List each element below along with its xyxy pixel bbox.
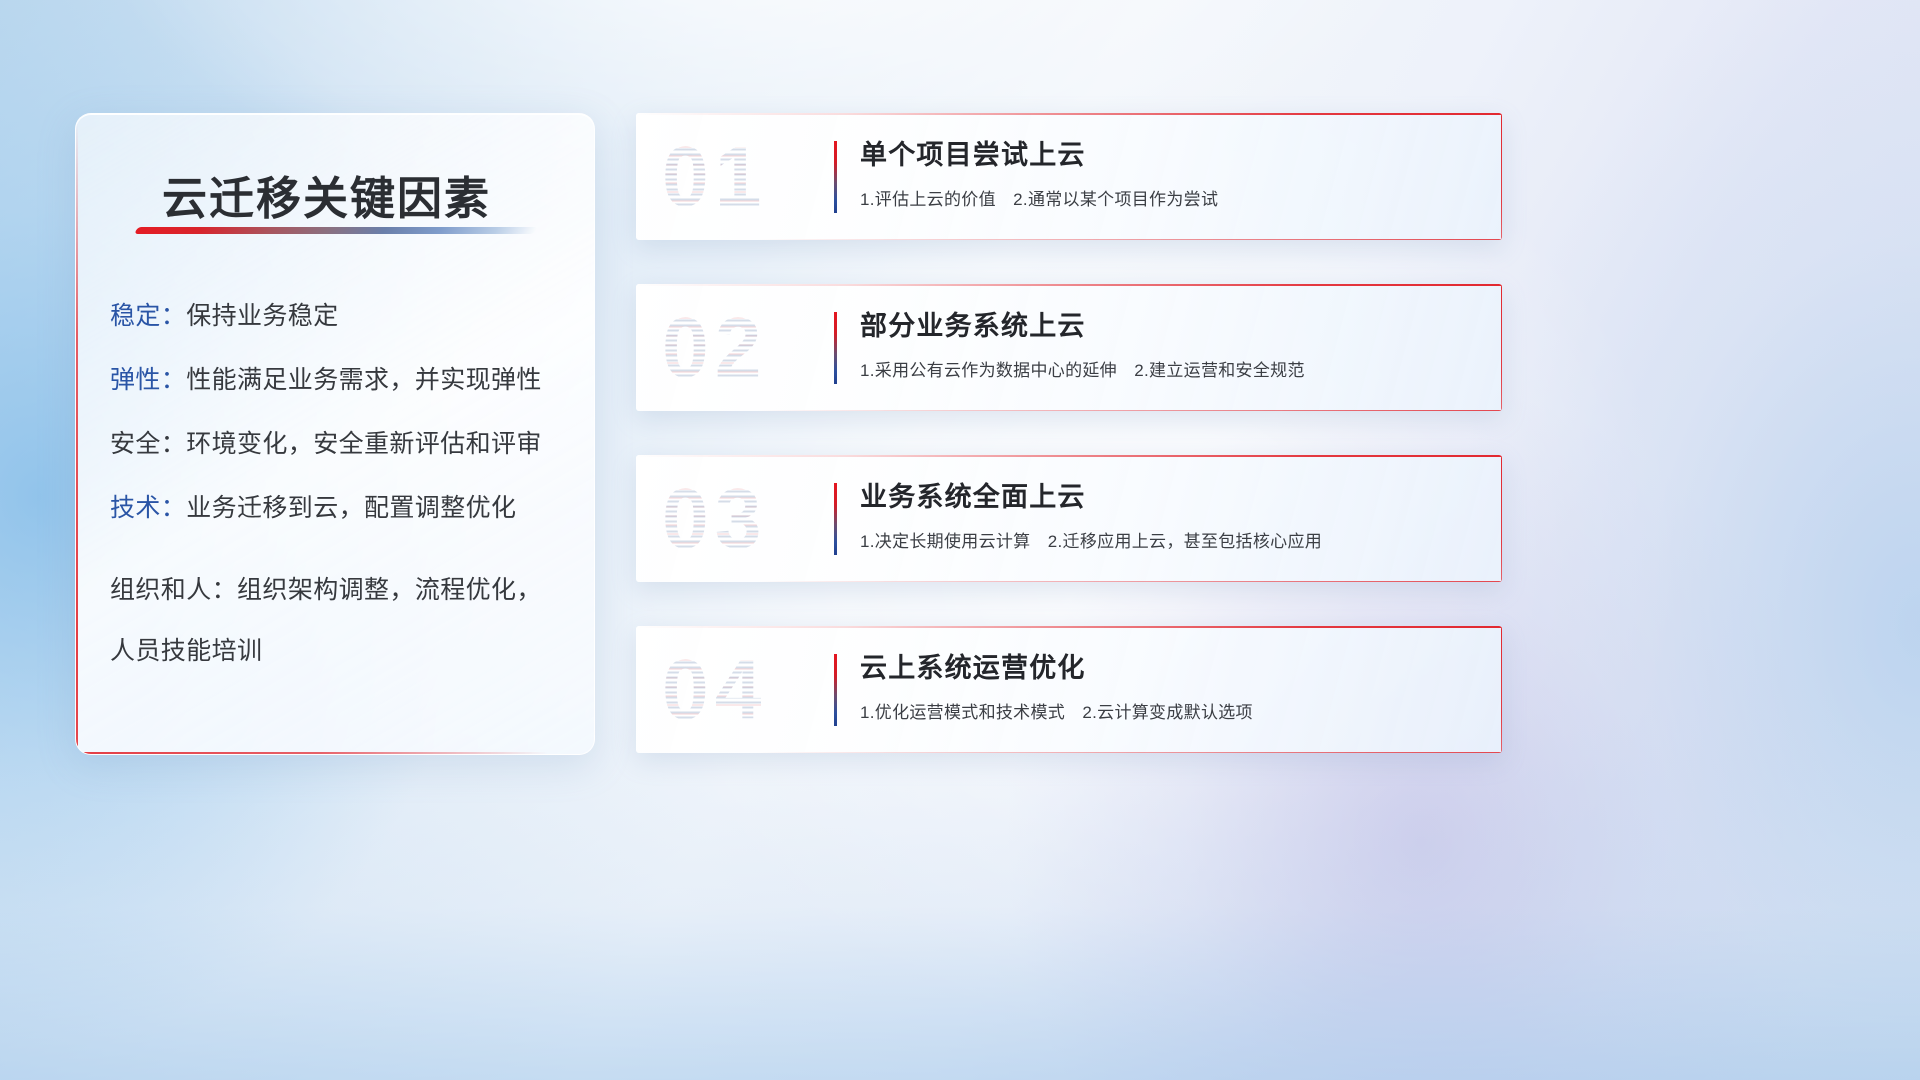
card-right-accent-line <box>1501 113 1503 240</box>
list-item: 组织和人：组织架构调整，流程优化，人员技能培训 <box>110 560 560 681</box>
card-bottom-accent-line <box>756 752 1502 754</box>
key-factors-list: 稳定：保持业务稳定 弹性：性能满足业务需求，并实现弹性 安全：环境变化，安全重新… <box>76 304 594 681</box>
list-item-label: 技术： <box>110 494 186 522</box>
list-item-label: 稳定： <box>110 302 186 330</box>
card-number: 02 <box>662 299 767 396</box>
card-accent-bar <box>834 654 837 726</box>
card-top-accent-line <box>636 113 1502 115</box>
card-description: 1.采用公有云作为数据中心的延伸 2.建立运营和安全规范 <box>860 356 1482 381</box>
stage-card[interactable]: 02 02 部分业务系统上云 1.采用公有云作为数据中心的延伸 2.建立运营和安… <box>636 284 1502 411</box>
panel-bottom-accent-edge <box>76 752 548 754</box>
card-right-accent-line <box>1501 284 1503 411</box>
card-bottom-accent-line <box>756 581 1502 583</box>
card-right-accent-line <box>1501 626 1503 753</box>
card-number-ghost: 01 <box>662 128 767 225</box>
card-number-ghost: 03 <box>662 470 767 567</box>
card-bottom-accent-line <box>756 239 1502 241</box>
card-accent-bar <box>834 312 837 384</box>
card-body: 业务系统全面上云 1.决定长期使用云计算 2.迁移应用上云，甚至包括核心应用 <box>860 482 1482 552</box>
card-title: 云上系统运营优化 <box>860 653 1482 684</box>
card-body: 部分业务系统上云 1.采用公有云作为数据中心的延伸 2.建立运营和安全规范 <box>860 311 1482 381</box>
card-number-ghost: 02 <box>662 299 767 396</box>
title-underline-rule <box>134 227 538 234</box>
card-description: 1.决定长期使用云计算 2.迁移应用上云，甚至包括核心应用 <box>860 527 1482 552</box>
card-description: 1.优化运营模式和技术模式 2.云计算变成默认选项 <box>860 698 1482 723</box>
card-top-accent-line <box>636 284 1502 286</box>
list-item: 技术：业务迁移到云，配置调整优化 <box>110 496 560 521</box>
list-item-text: 保持业务稳定 <box>186 302 338 330</box>
list-item-label: 弹性： <box>110 366 186 394</box>
stage-card[interactable]: 04 04 云上系统运营优化 1.优化运营模式和技术模式 2.云计算变成默认选项 <box>636 626 1502 753</box>
card-top-accent-line <box>636 626 1502 628</box>
card-number: 03 <box>662 470 767 567</box>
card-number-ghost: 04 <box>662 641 767 738</box>
migration-stage-cards: 01 01 单个项目尝试上云 1.评估上云的价值 2.通常以某个项目作为尝试 0… <box>636 113 1502 753</box>
card-description: 1.评估上云的价值 2.通常以某个项目作为尝试 <box>860 185 1482 210</box>
list-item-text: 环境变化，安全重新评估和评审 <box>186 430 542 458</box>
card-top-accent-line <box>636 455 1502 457</box>
card-title: 单个项目尝试上云 <box>860 140 1482 171</box>
list-item-text: 性能满足业务需求，并实现弹性 <box>186 366 542 394</box>
key-factors-panel: 云迁移关键因素 稳定：保持业务稳定 弹性：性能满足业务需求，并实现弹性 安全：环… <box>75 113 595 755</box>
card-right-accent-line <box>1501 455 1503 582</box>
card-body: 单个项目尝试上云 1.评估上云的价值 2.通常以某个项目作为尝试 <box>860 140 1482 210</box>
card-number: 04 <box>662 641 767 738</box>
slide-canvas: 云迁移关键因素 稳定：保持业务稳定 弹性：性能满足业务需求，并实现弹性 安全：环… <box>0 0 1920 1080</box>
list-item: 稳定：保持业务稳定 <box>110 304 560 329</box>
card-accent-bar <box>834 141 837 213</box>
card-bottom-accent-line <box>756 410 1502 412</box>
card-accent-bar <box>834 483 837 555</box>
list-item-text: 业务迁移到云，配置调整优化 <box>186 494 516 522</box>
card-title: 部分业务系统上云 <box>860 311 1482 342</box>
card-title: 业务系统全面上云 <box>860 482 1482 513</box>
stage-card[interactable]: 01 01 单个项目尝试上云 1.评估上云的价值 2.通常以某个项目作为尝试 <box>636 113 1502 240</box>
card-number: 01 <box>662 128 767 225</box>
list-item-label: 安全： <box>110 430 186 458</box>
list-item: 安全：环境变化，安全重新评估和评审 <box>110 432 560 457</box>
card-body: 云上系统运营优化 1.优化运营模式和技术模式 2.云计算变成默认选项 <box>860 653 1482 723</box>
list-item-label: 组织和人： <box>110 576 237 604</box>
stage-card[interactable]: 03 03 业务系统全面上云 1.决定长期使用云计算 2.迁移应用上云，甚至包括… <box>636 455 1502 582</box>
list-item: 弹性：性能满足业务需求，并实现弹性 <box>110 368 560 393</box>
page-title: 云迁移关键因素 <box>162 162 491 227</box>
